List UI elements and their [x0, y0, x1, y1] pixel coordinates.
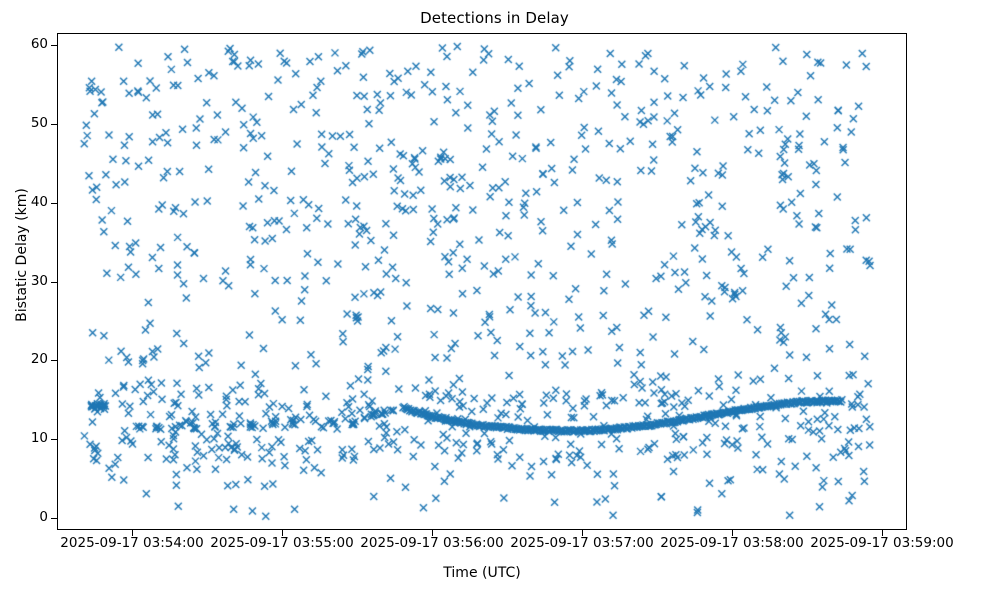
x-tick-label: 2025-09-17 03:56:00 — [360, 535, 503, 551]
x-tick-label: 2025-09-17 03:55:00 — [210, 535, 353, 551]
x-tick-mark — [282, 530, 283, 536]
x-tick-label: 2025-09-17 03:54:00 — [60, 535, 203, 551]
x-tick-mark — [132, 530, 133, 536]
x-axis-tick-labels: 2025-09-17 03:54:002025-09-17 03:55:0020… — [0, 0, 989, 590]
y-axis-label: Bistatic Delay (km) — [14, 125, 30, 385]
x-tick-label: 2025-09-17 03:59:00 — [810, 535, 953, 551]
x-tick-mark — [432, 530, 433, 536]
x-tick-mark — [732, 530, 733, 536]
x-tick-mark — [882, 530, 883, 536]
x-tick-mark — [582, 530, 583, 536]
figure-canvas: Detections in Delay 0102030405060 2025-0… — [0, 0, 989, 590]
x-axis-label: Time (UTC) — [57, 565, 907, 581]
x-tick-label: 2025-09-17 03:57:00 — [510, 535, 653, 551]
x-tick-label: 2025-09-17 03:58:00 — [660, 535, 803, 551]
